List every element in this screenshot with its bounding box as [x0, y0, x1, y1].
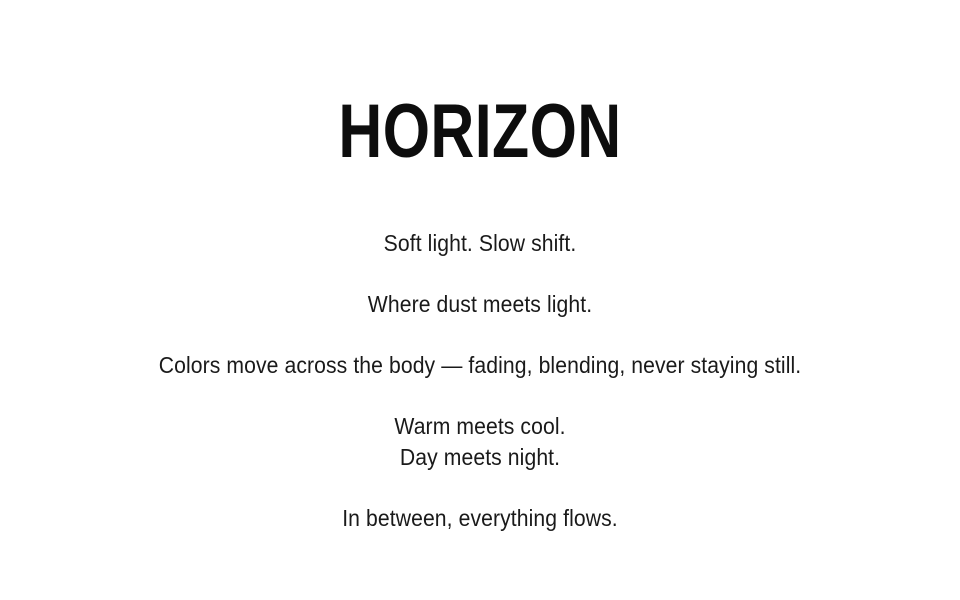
poem-line: Soft light. Slow shift. — [38, 228, 921, 259]
poem-line: Colors move across the body — fading, bl… — [38, 350, 921, 381]
poem-stanza: In between, everything flows. — [38, 503, 921, 534]
poster-content: HORIZON Soft light. Slow shift. Where du… — [0, 0, 960, 600]
poster-canvas: HORIZON Soft light. Slow shift. Where du… — [0, 0, 960, 600]
poem-body: Soft light. Slow shift. Where dust meets… — [0, 228, 960, 534]
poem-stanza: Warm meets cool. Day meets night. — [38, 411, 921, 473]
page-title: HORIZON — [96, 92, 864, 172]
poem-stanza: Colors move across the body — fading, bl… — [38, 350, 921, 381]
poem-line: Where dust meets light. — [38, 289, 921, 320]
poem-stanza: Where dust meets light. — [38, 289, 921, 320]
poem-line: Day meets night. — [38, 442, 921, 473]
poem-line: Warm meets cool. — [38, 411, 921, 442]
poem-stanza: Soft light. Slow shift. — [38, 228, 921, 259]
poem-line: In between, everything flows. — [38, 503, 921, 534]
